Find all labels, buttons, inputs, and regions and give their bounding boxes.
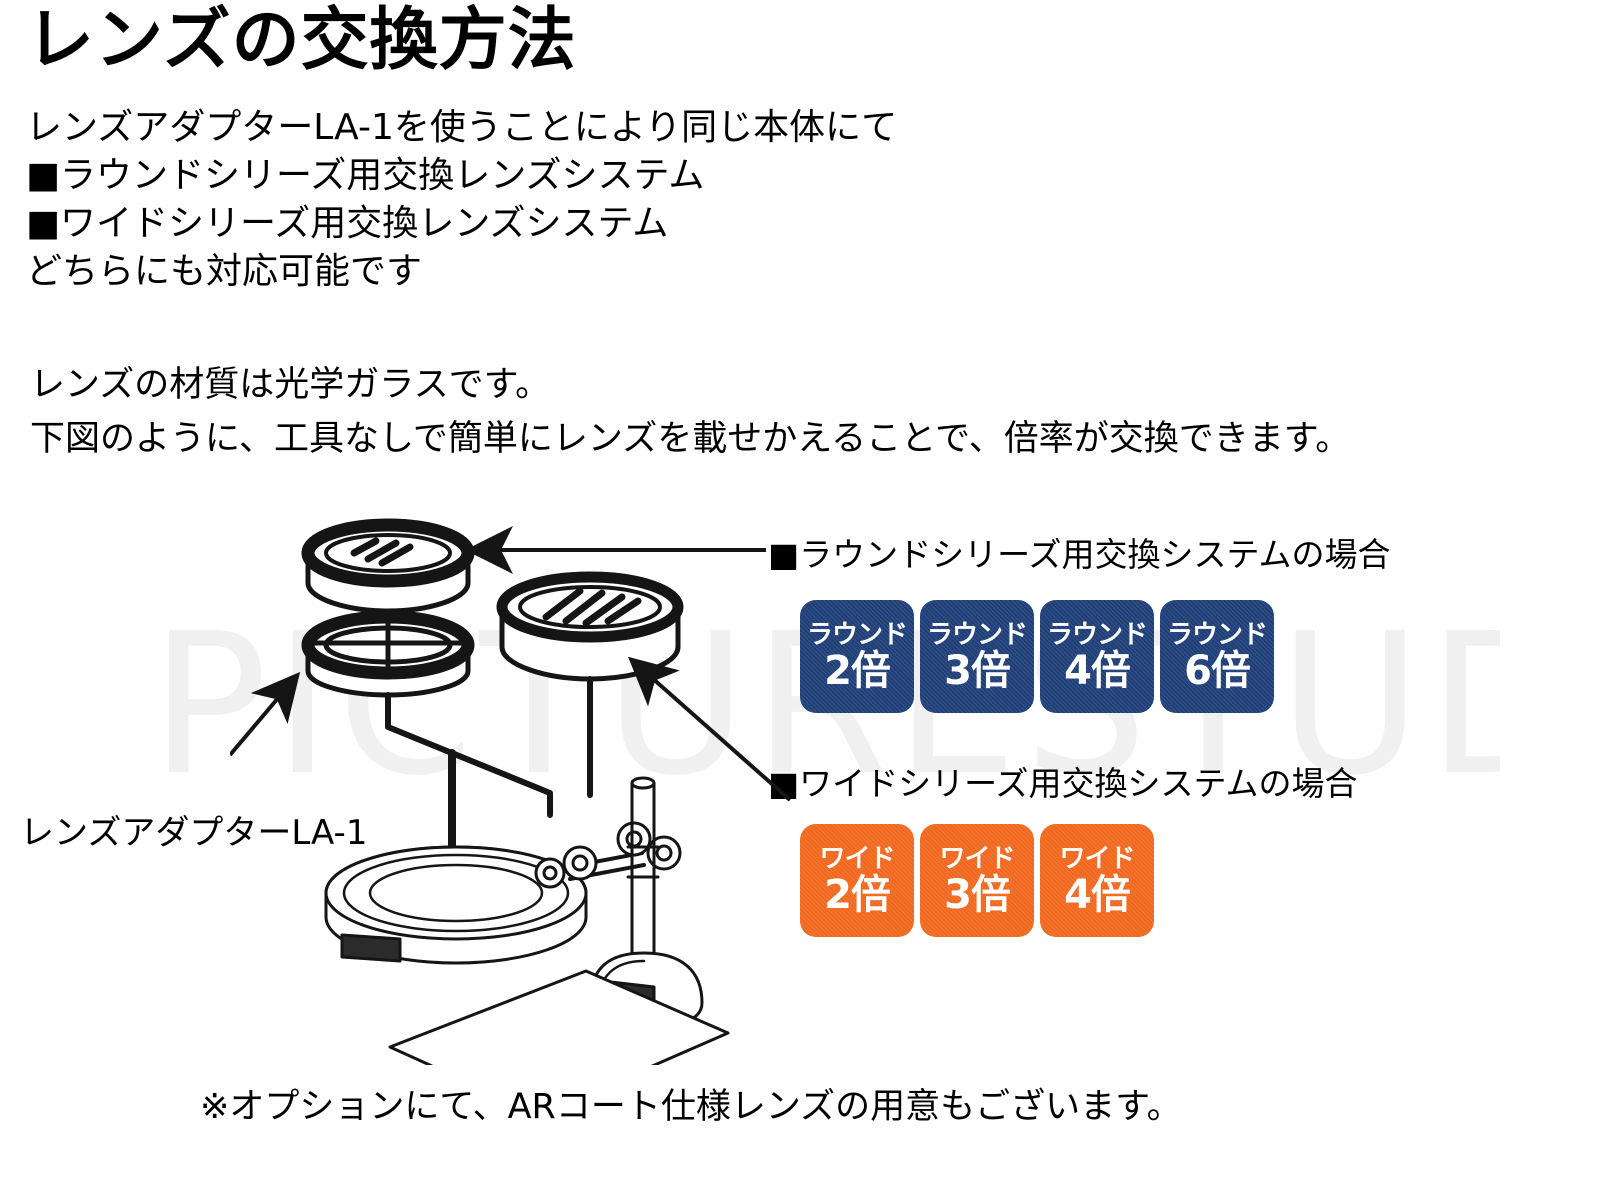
footnote-text: ※オプションにて、ARコート仕様レンズの用意もございます。	[200, 1078, 1182, 1129]
page-root: PICTURESTUDIO レンズの交換方法 レンズアダプターLA-1を使うこと…	[0, 0, 1600, 1183]
material-line-1: レンズの材質は光学ガラスです。	[30, 358, 1350, 412]
badge-series-label: ラウンド	[1167, 622, 1267, 648]
wide-badge-row: ワイド 2倍 ワイド 3倍 ワイド 4倍	[800, 824, 1154, 937]
badge-wide-2x[interactable]: ワイド 2倍	[800, 824, 914, 937]
badge-series-label: ラウンド	[927, 622, 1027, 648]
badge-wide-4x[interactable]: ワイド 4倍	[1040, 824, 1154, 937]
badge-magnification-label: 3倍	[944, 651, 1010, 691]
badge-round-4x[interactable]: ラウンド 4倍	[1040, 600, 1154, 713]
round-section-caption: ■ラウンドシリーズ用交換システムの場合	[768, 528, 1391, 576]
material-paragraph: レンズの材質は光学ガラスです。 下図のように、工具なしで簡単にレンズを載せかえる…	[30, 358, 1350, 466]
badge-magnification-label: 6倍	[1184, 651, 1250, 691]
badge-magnification-label: 2倍	[824, 651, 890, 691]
badge-series-label: ラウンド	[1047, 622, 1147, 648]
intro-line-4: どちらにも対応可能です	[26, 248, 897, 296]
callout-arrows	[230, 500, 810, 830]
badge-round-6x[interactable]: ラウンド 6倍	[1160, 600, 1274, 713]
badge-magnification-label: 4倍	[1064, 875, 1130, 915]
badge-magnification-label: 3倍	[944, 875, 1010, 915]
intro-line-2: ■ラウンドシリーズ用交換レンズシステム	[26, 152, 897, 200]
material-line-2: 下図のように、工具なしで簡単にレンズを載せかえることで、倍率が交換できます。	[30, 412, 1350, 466]
intro-paragraph: レンズアダプターLA-1を使うことにより同じ本体にて ■ラウンドシリーズ用交換レ…	[26, 104, 897, 296]
badge-round-3x[interactable]: ラウンド 3倍	[920, 600, 1034, 713]
badge-series-label: ワイド	[939, 846, 1014, 872]
badge-series-label: ワイド	[819, 846, 894, 872]
badge-series-label: ラウンド	[807, 622, 907, 648]
page-title: レンズの交換方法	[26, 2, 577, 80]
intro-line-3: ■ワイドシリーズ用交換レンズシステム	[26, 200, 897, 248]
badge-magnification-label: 2倍	[824, 875, 890, 915]
intro-line-1: レンズアダプターLA-1を使うことにより同じ本体にて	[26, 104, 897, 152]
arrow-to-adapter	[230, 678, 295, 755]
badge-series-label: ワイド	[1059, 846, 1134, 872]
badge-magnification-label: 4倍	[1064, 651, 1130, 691]
badge-round-2x[interactable]: ラウンド 2倍	[800, 600, 914, 713]
wide-section-caption: ■ワイドシリーズ用交換システムの場合	[768, 757, 1358, 805]
arrow-to-wide-lens	[634, 662, 790, 800]
badge-wide-3x[interactable]: ワイド 3倍	[920, 824, 1034, 937]
round-badge-row: ラウンド 2倍 ラウンド 3倍 ラウンド 4倍 ラウンド 6倍	[800, 600, 1274, 713]
